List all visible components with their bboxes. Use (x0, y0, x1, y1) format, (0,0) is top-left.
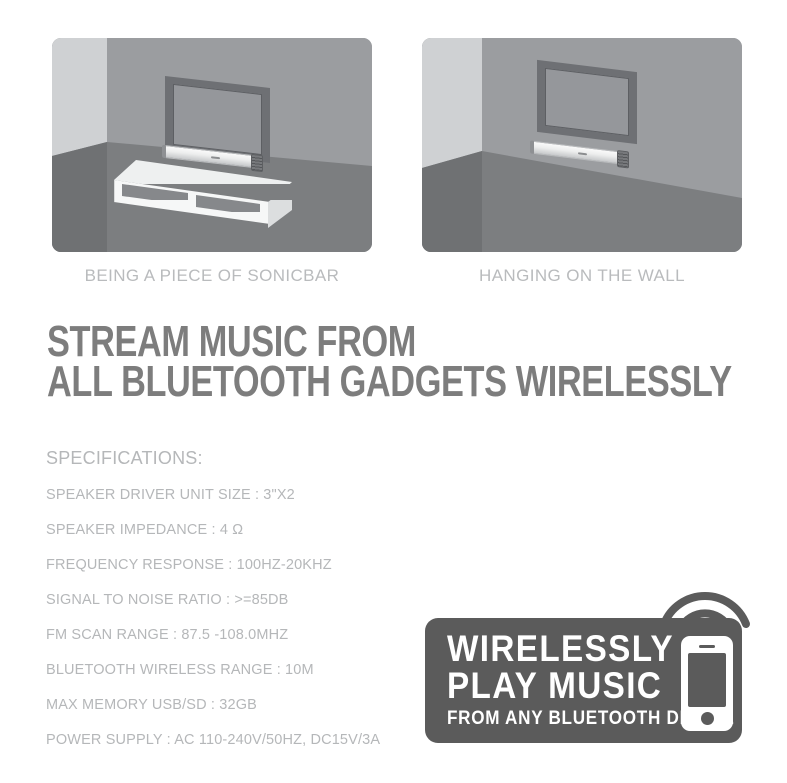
spec-row: SPEAKER IMPEDANCE : 4 Ω (46, 521, 446, 556)
spec-row: POWER SUPPLY : AC 110-240V/50HZ, DC15V/3… (46, 731, 446, 766)
spec-row: FREQUENCY RESPONSE : 100HZ-20KHZ (46, 556, 446, 591)
panel-caption-sonicbar: BEING A PIECE OF SONICBAR (52, 266, 372, 286)
headline-line-1: STREAM MUSIC FROM (47, 322, 601, 362)
badge-line-2: PLAY MUSIC (447, 667, 654, 704)
specifications-title: SPECIFICATIONS: (46, 448, 203, 469)
console-top-surface (114, 160, 292, 184)
console-front (114, 178, 275, 224)
spec-row: SPEAKER DRIVER UNIT SIZE : 3"X2 (46, 486, 446, 521)
console-side (268, 200, 292, 230)
headline: STREAM MUSIC FROM ALL BLUETOOTH GADGETS … (47, 322, 601, 402)
television-icon (537, 60, 637, 144)
soundbar-right-grille (251, 154, 263, 172)
spec-row: BLUETOOTH WIRELESS RANGE : 10M (46, 661, 446, 696)
spec-row: SIGNAL TO NOISE RATIO : >=85DB (46, 591, 446, 626)
panel-caption-wall-mount: HANGING ON THE WALL (422, 266, 742, 286)
phone-home-button (701, 712, 714, 725)
smartphone-icon (681, 636, 733, 731)
phone-screen (688, 653, 726, 707)
tv-console (114, 160, 294, 230)
spec-row: FM SCAN RANGE : 87.5 -108.0MHZ (46, 626, 446, 661)
tv-screen (545, 68, 629, 136)
badge-line-1: WIRELESSLY (447, 630, 654, 667)
tv-screen (173, 84, 262, 155)
soundbar-left-cap (162, 145, 166, 158)
panel-sonicbar (52, 38, 372, 252)
badge-text-block: WIRELESSLY PLAY MUSIC FROM ANY BLUETOOTH… (447, 630, 677, 730)
wirelessly-play-music-badge: WIRELESSLY PLAY MUSIC FROM ANY BLUETOOTH… (425, 618, 742, 743)
soundbar-display (578, 152, 587, 155)
soundbar-left-cap (530, 140, 534, 153)
soundbar-right-grille (617, 150, 629, 168)
headline-line-2: ALL BLUETOOTH GADGETS WIRELESSLY (47, 362, 601, 402)
soundbar-display (211, 156, 220, 159)
specifications-list: SPEAKER DRIVER UNIT SIZE : 3"X2 SPEAKER … (46, 486, 446, 766)
badge-line-3: FROM ANY BLUETOOTH DEVICE (447, 708, 654, 730)
scene-panels (0, 0, 787, 300)
spec-row: MAX MEMORY USB/SD : 32GB (46, 696, 446, 731)
panel-wall-mount (422, 38, 742, 252)
phone-speaker-slot (699, 645, 715, 648)
